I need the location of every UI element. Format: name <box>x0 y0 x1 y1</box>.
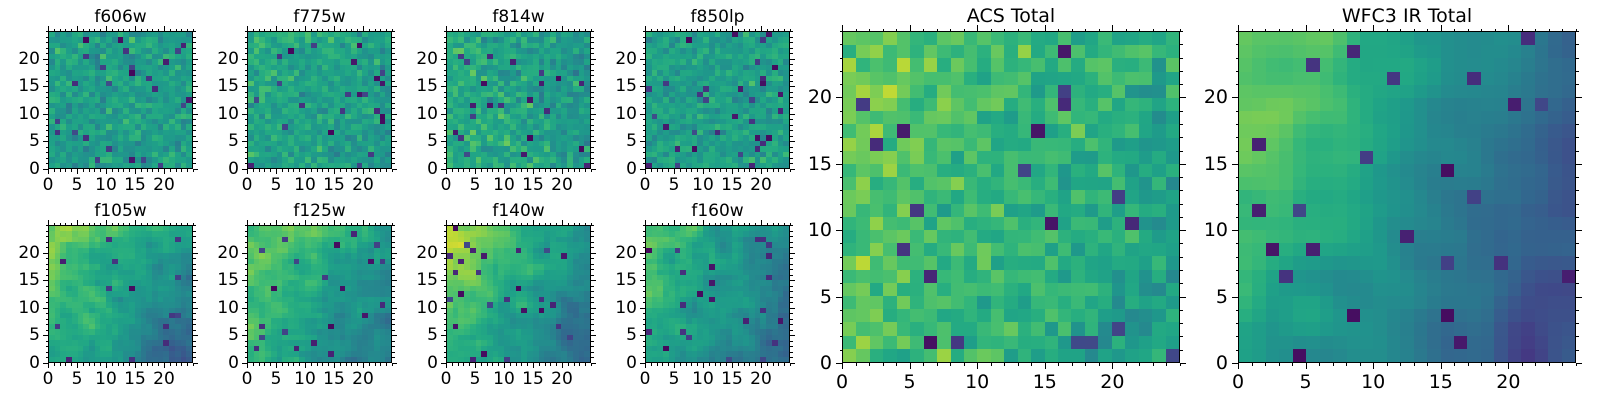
y-tick-right <box>790 313 793 314</box>
y-tick-label: 5 <box>626 325 637 345</box>
y-tick-label: 20 <box>808 86 832 108</box>
heatmap-cells <box>49 32 192 168</box>
y-tick-minor <box>444 158 447 159</box>
x-tick-top <box>950 29 951 32</box>
x-tick-major <box>977 363 978 369</box>
y-tick-right <box>392 302 395 303</box>
x-tick-minor <box>686 169 687 172</box>
x-tick-minor <box>492 363 493 366</box>
y-tick-right <box>790 97 793 98</box>
x-tick-label: 10 <box>95 369 117 389</box>
y-tick-major <box>640 253 645 254</box>
x-tick-minor <box>293 169 294 172</box>
x-tick-minor <box>170 169 171 172</box>
x-tick-minor <box>1562 363 1563 366</box>
x-tick-top <box>247 26 248 31</box>
heatmap-cells <box>646 32 789 168</box>
y-tick-right <box>392 357 395 358</box>
y-tick-major <box>441 280 446 281</box>
x-tick-top <box>487 29 488 32</box>
y-tick-right <box>1180 204 1183 205</box>
y-tick-minor <box>444 275 447 276</box>
y-tick-minor <box>444 163 447 164</box>
y-tick-minor <box>840 124 843 125</box>
y-tick-minor <box>1236 31 1239 32</box>
x-tick-minor <box>469 363 470 366</box>
x-tick-major <box>276 169 277 174</box>
x-tick-major <box>842 363 843 369</box>
y-tick-right <box>591 64 594 65</box>
y-tick-right <box>591 152 594 153</box>
y-tick-right <box>1576 124 1579 125</box>
y-tick-right <box>193 147 196 148</box>
y-tick-minor <box>245 258 248 259</box>
x-tick-top <box>585 29 586 32</box>
y-tick-right <box>392 92 395 93</box>
x-tick-label: 15 <box>124 369 146 389</box>
y-tick-right <box>591 335 596 336</box>
x-tick-top <box>1018 29 1019 32</box>
x-tick-top <box>1481 29 1482 32</box>
y-tick-right <box>1576 190 1579 191</box>
x-tick-minor <box>60 169 61 172</box>
y-tick-right <box>591 280 596 281</box>
y-tick-minor <box>444 225 447 226</box>
y-tick-minor <box>643 269 646 270</box>
x-tick-minor <box>755 169 756 172</box>
x-tick-minor <box>579 169 580 172</box>
y-tick-minor <box>643 136 646 137</box>
y-tick-minor <box>1236 177 1239 178</box>
x-tick-major <box>77 169 78 174</box>
x-tick-top <box>147 223 148 226</box>
y-tick-right <box>1576 243 1579 244</box>
x-tick-minor <box>715 169 716 172</box>
x-tick-top <box>1427 29 1428 32</box>
y-tick-minor <box>840 58 843 59</box>
panel-f606w: f606w0510152005101520 <box>0 0 1600 400</box>
panel-f775w: f775w0510152005101520 <box>0 0 1600 400</box>
heatmap-cells <box>49 226 192 362</box>
x-tick-minor <box>123 363 124 366</box>
y-tick-minor <box>444 231 447 232</box>
y-tick-minor <box>46 31 49 32</box>
x-tick-minor <box>516 169 517 172</box>
x-tick-minor <box>112 169 113 172</box>
x-tick-top <box>1414 29 1415 32</box>
x-tick-minor <box>539 169 540 172</box>
y-tick-right <box>790 75 793 76</box>
heatmap-cells <box>447 226 590 362</box>
x-tick-minor <box>749 363 750 366</box>
y-tick-right <box>1180 97 1186 98</box>
y-tick-right <box>591 86 596 87</box>
heatmap-f105w <box>48 225 193 363</box>
x-tick-label: 20 <box>1496 371 1520 393</box>
x-tick-top <box>778 29 779 32</box>
panel-title-f814w: f814w <box>446 7 591 27</box>
x-tick-minor <box>346 169 347 172</box>
y-tick-minor <box>444 108 447 109</box>
y-tick-major <box>836 97 842 98</box>
x-tick-minor <box>89 363 90 366</box>
x-tick-minor <box>550 363 551 366</box>
y-tick-minor <box>840 84 843 85</box>
x-tick-top <box>135 220 136 225</box>
y-tick-right <box>591 53 594 54</box>
heatmap-f850lp <box>645 31 790 169</box>
x-tick-minor <box>293 363 294 366</box>
x-tick-minor <box>270 169 271 172</box>
x-tick-top <box>784 29 785 32</box>
x-tick-minor <box>463 363 464 366</box>
panel-title-f125w: f125w <box>247 201 392 221</box>
x-tick-top <box>691 223 692 226</box>
x-tick-minor <box>328 169 329 172</box>
y-tick-right <box>591 242 594 243</box>
y-tick-minor <box>46 42 49 43</box>
panel-f814w: f814w0510152005101520 <box>0 0 1600 400</box>
y-tick-right <box>790 53 793 54</box>
y-tick-major <box>242 280 247 281</box>
x-tick-top <box>910 25 911 31</box>
x-tick-top <box>533 220 534 225</box>
x-tick-top <box>77 26 78 31</box>
x-tick-top <box>568 223 569 226</box>
x-tick-minor <box>1535 363 1536 366</box>
x-tick-minor <box>568 169 569 172</box>
x-tick-top <box>550 223 551 226</box>
x-tick-top <box>869 29 870 32</box>
y-tick-minor <box>840 190 843 191</box>
x-tick-label: 10 <box>1361 371 1385 393</box>
panel-title-f140w: f140w <box>446 201 591 221</box>
x-tick-top <box>106 220 107 225</box>
x-tick-top <box>363 220 364 225</box>
y-tick-right <box>193 103 196 104</box>
x-tick-top <box>193 223 194 226</box>
x-tick-minor <box>680 363 681 366</box>
y-tick-right <box>193 286 196 287</box>
x-tick-minor <box>380 169 381 172</box>
x-tick-top <box>299 29 300 32</box>
x-tick-top <box>726 223 727 226</box>
y-tick-right <box>392 81 395 82</box>
y-tick-right <box>392 269 395 270</box>
panel-title-f850lp: f850lp <box>645 7 790 27</box>
y-tick-minor <box>46 313 49 314</box>
y-tick-minor <box>1236 310 1239 311</box>
x-tick-top <box>550 29 551 32</box>
x-tick-minor <box>299 363 300 366</box>
y-tick-minor <box>1236 350 1239 351</box>
x-tick-minor <box>715 363 716 366</box>
x-tick-top <box>1279 29 1280 32</box>
y-tick-right <box>392 291 395 292</box>
y-tick-right <box>193 81 196 82</box>
y-tick-minor <box>444 37 447 38</box>
y-tick-label: 0 <box>626 159 637 179</box>
y-tick-minor <box>46 130 49 131</box>
y-tick-right <box>193 308 198 309</box>
x-tick-top <box>778 223 779 226</box>
y-tick-right <box>392 346 395 347</box>
y-tick-right <box>591 125 594 126</box>
x-tick-minor <box>767 363 768 366</box>
x-tick-top <box>720 29 721 32</box>
y-tick-right <box>193 152 196 153</box>
x-tick-minor <box>1004 363 1005 366</box>
x-tick-top <box>1562 29 1563 32</box>
x-tick-label: 10 <box>294 175 316 195</box>
y-tick-minor <box>245 319 248 320</box>
y-tick-label: 5 <box>427 325 438 345</box>
x-tick-minor <box>264 363 265 366</box>
x-tick-top <box>1126 29 1127 32</box>
y-tick-minor <box>643 103 646 104</box>
y-tick-label: 15 <box>18 270 40 290</box>
x-tick-top <box>1373 25 1374 31</box>
x-tick-top <box>749 223 750 226</box>
x-tick-top <box>346 223 347 226</box>
y-tick-label: 5 <box>228 131 239 151</box>
y-tick-right <box>591 147 594 148</box>
x-tick-label: 20 <box>551 175 573 195</box>
x-tick-minor <box>1018 363 1019 366</box>
x-tick-major <box>446 363 447 368</box>
y-tick-minor <box>643 231 646 232</box>
x-tick-label: 5 <box>271 369 282 389</box>
x-tick-minor <box>170 363 171 366</box>
x-tick-label: 0 <box>242 175 253 195</box>
x-tick-top <box>357 29 358 32</box>
x-tick-top <box>516 29 517 32</box>
y-tick-right <box>591 37 594 38</box>
x-tick-minor <box>1400 363 1401 366</box>
x-tick-top <box>357 223 358 226</box>
x-tick-minor <box>657 363 658 366</box>
y-tick-right <box>193 319 196 320</box>
y-tick-minor <box>245 269 248 270</box>
y-tick-right <box>790 335 795 336</box>
x-tick-label: 15 <box>522 175 544 195</box>
y-tick-label: 5 <box>427 131 438 151</box>
y-tick-minor <box>1236 243 1239 244</box>
y-tick-label: 10 <box>18 104 40 124</box>
x-tick-minor <box>328 363 329 366</box>
y-tick-minor <box>643 264 646 265</box>
x-tick-top <box>340 223 341 226</box>
y-tick-right <box>790 352 793 353</box>
x-tick-label: 20 <box>750 175 772 195</box>
y-tick-right <box>790 86 795 87</box>
x-tick-top <box>504 220 505 225</box>
x-tick-top <box>334 26 335 31</box>
x-tick-top <box>498 29 499 32</box>
x-tick-label: 5 <box>669 175 680 195</box>
y-tick-right <box>790 236 793 237</box>
y-tick-minor <box>245 236 248 237</box>
y-tick-right <box>193 92 196 93</box>
x-tick-top <box>744 29 745 32</box>
y-tick-label: 0 <box>228 353 239 373</box>
y-tick-minor <box>46 108 49 109</box>
x-tick-top <box>755 223 756 226</box>
y-tick-right <box>591 275 594 276</box>
y-tick-right <box>1576 323 1579 324</box>
y-tick-major <box>441 335 446 336</box>
y-tick-right <box>790 119 793 120</box>
x-tick-major <box>645 363 646 368</box>
y-tick-right <box>193 119 196 120</box>
x-tick-minor <box>129 169 130 172</box>
y-tick-minor <box>643 70 646 71</box>
x-tick-top <box>1468 29 1469 32</box>
y-tick-minor <box>643 286 646 287</box>
x-tick-top <box>181 29 182 32</box>
x-tick-minor <box>288 169 289 172</box>
y-tick-major <box>43 141 48 142</box>
y-tick-label: 10 <box>217 104 239 124</box>
y-tick-minor <box>444 269 447 270</box>
y-tick-major <box>242 114 247 115</box>
x-tick-minor <box>54 363 55 366</box>
x-tick-minor <box>65 363 66 366</box>
y-tick-right <box>1180 84 1183 85</box>
y-tick-right <box>193 231 196 232</box>
x-tick-minor <box>129 363 130 366</box>
y-tick-major <box>43 280 48 281</box>
x-tick-top <box>1292 29 1293 32</box>
y-tick-minor <box>643 313 646 314</box>
y-tick-right <box>1180 44 1183 45</box>
x-tick-top <box>761 26 762 31</box>
y-tick-major <box>441 114 446 115</box>
x-tick-major <box>533 169 534 174</box>
y-tick-right <box>193 335 198 336</box>
x-tick-minor <box>784 363 785 366</box>
y-tick-label: 0 <box>427 159 438 179</box>
y-tick-right <box>193 225 196 226</box>
x-tick-minor <box>1360 363 1361 366</box>
y-tick-label: 15 <box>18 76 40 96</box>
y-tick-major <box>43 363 48 364</box>
y-tick-right <box>193 280 198 281</box>
y-tick-right <box>790 114 795 115</box>
x-tick-top <box>732 220 733 225</box>
y-tick-right <box>392 42 395 43</box>
y-tick-right <box>392 70 395 71</box>
y-tick-label: 5 <box>29 325 40 345</box>
x-tick-top <box>288 29 289 32</box>
x-tick-top <box>545 223 546 226</box>
x-tick-top <box>556 223 557 226</box>
x-tick-top <box>697 223 698 226</box>
x-tick-top <box>276 220 277 225</box>
y-tick-minor <box>444 236 447 237</box>
y-tick-minor <box>46 152 49 153</box>
x-tick-minor <box>883 363 884 366</box>
x-tick-major <box>334 363 335 368</box>
y-tick-major <box>836 297 842 298</box>
x-tick-minor <box>187 169 188 172</box>
y-tick-right <box>790 286 793 287</box>
x-tick-top <box>60 29 61 32</box>
x-tick-top <box>703 26 704 31</box>
y-tick-minor <box>643 258 646 259</box>
x-tick-label: 15 <box>721 369 743 389</box>
x-tick-major <box>533 363 534 368</box>
y-tick-label: 20 <box>416 243 438 263</box>
x-tick-minor <box>790 169 791 172</box>
x-tick-label: 0 <box>43 369 54 389</box>
x-tick-top <box>790 29 791 32</box>
x-tick-top <box>71 223 72 226</box>
y-tick-right <box>591 319 594 320</box>
y-tick-right <box>790 81 793 82</box>
y-tick-right <box>591 236 594 237</box>
y-tick-minor <box>444 75 447 76</box>
y-tick-right <box>1576 111 1579 112</box>
x-tick-top <box>964 29 965 32</box>
x-tick-top <box>48 26 49 31</box>
x-tick-top <box>481 223 482 226</box>
y-tick-minor <box>46 81 49 82</box>
y-tick-minor <box>46 324 49 325</box>
y-tick-right <box>591 324 594 325</box>
y-tick-right <box>392 275 395 276</box>
x-tick-minor <box>527 363 528 366</box>
y-tick-right <box>1180 190 1183 191</box>
y-tick-minor <box>643 81 646 82</box>
y-tick-minor <box>1236 58 1239 59</box>
y-tick-minor <box>643 275 646 276</box>
y-tick-major <box>640 114 645 115</box>
x-tick-label: 5 <box>271 175 282 195</box>
y-tick-right <box>591 269 594 270</box>
x-tick-top <box>129 223 130 226</box>
x-tick-minor <box>738 363 739 366</box>
x-tick-label: 0 <box>43 175 54 195</box>
y-tick-right <box>193 114 198 115</box>
y-tick-major <box>1232 97 1238 98</box>
x-tick-top <box>585 223 586 226</box>
y-tick-minor <box>46 275 49 276</box>
y-tick-major <box>43 169 48 170</box>
heatmap-cells <box>447 32 590 168</box>
x-tick-top <box>369 223 370 226</box>
y-tick-right <box>193 324 196 325</box>
y-tick-minor <box>245 297 248 298</box>
x-tick-top <box>790 223 791 226</box>
y-tick-minor <box>643 319 646 320</box>
y-tick-right <box>591 31 594 32</box>
y-tick-right <box>1576 97 1582 98</box>
x-tick-top <box>856 29 857 32</box>
x-tick-label: 0 <box>640 369 651 389</box>
y-tick-right <box>591 97 594 98</box>
x-tick-top <box>1441 25 1442 31</box>
panel-title-f606w: f606w <box>48 7 193 27</box>
x-tick-top <box>463 223 464 226</box>
y-tick-right <box>591 114 596 115</box>
x-tick-minor <box>1126 363 1127 366</box>
y-tick-right <box>1576 31 1579 32</box>
x-tick-top <box>452 29 453 32</box>
x-tick-top <box>187 29 188 32</box>
x-tick-top <box>545 29 546 32</box>
y-tick-minor <box>1236 270 1239 271</box>
